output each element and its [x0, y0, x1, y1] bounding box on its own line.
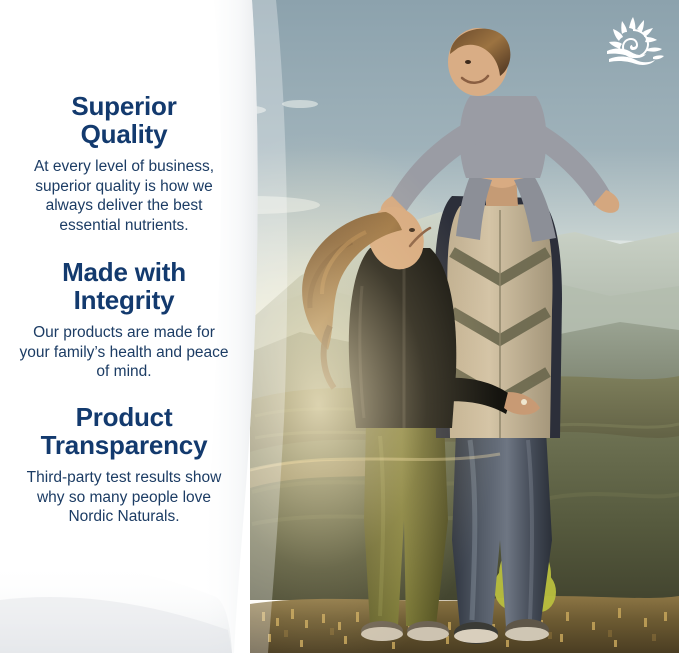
value-prop-superior-quality: SuperiorQuality At every level of busine… — [0, 92, 248, 235]
value-props-column: SuperiorQuality At every level of busine… — [0, 0, 248, 653]
product-transparency-heading: ProductTransparency — [0, 403, 248, 459]
product-transparency-heading-line1: Product — [76, 402, 173, 432]
product-transparency-heading-line2: Transparency — [41, 430, 208, 460]
value-prop-made-with-integrity: Made withIntegrity Our products are made… — [0, 258, 248, 382]
made-with-integrity-heading: Made withIntegrity — [0, 258, 248, 314]
sun-wave-logo-icon — [603, 16, 665, 66]
superior-quality-heading: SuperiorQuality — [0, 92, 248, 148]
made-with-integrity-body: Our products are made for your family’s … — [0, 323, 248, 382]
made-with-integrity-heading-line2: Integrity — [74, 285, 175, 315]
made-with-integrity-heading-line1: Made with — [62, 257, 186, 287]
product-transparency-body: Third-party test results show why so man… — [0, 468, 248, 527]
superior-quality-body: At every level of business, superior qua… — [0, 157, 248, 235]
superior-quality-heading-line2: Quality — [81, 119, 168, 149]
superior-quality-heading-line1: Superior — [71, 91, 176, 121]
value-prop-product-transparency: ProductTransparency Third-party test res… — [0, 403, 248, 527]
marketing-banner: SuperiorQuality At every level of busine… — [0, 0, 679, 653]
